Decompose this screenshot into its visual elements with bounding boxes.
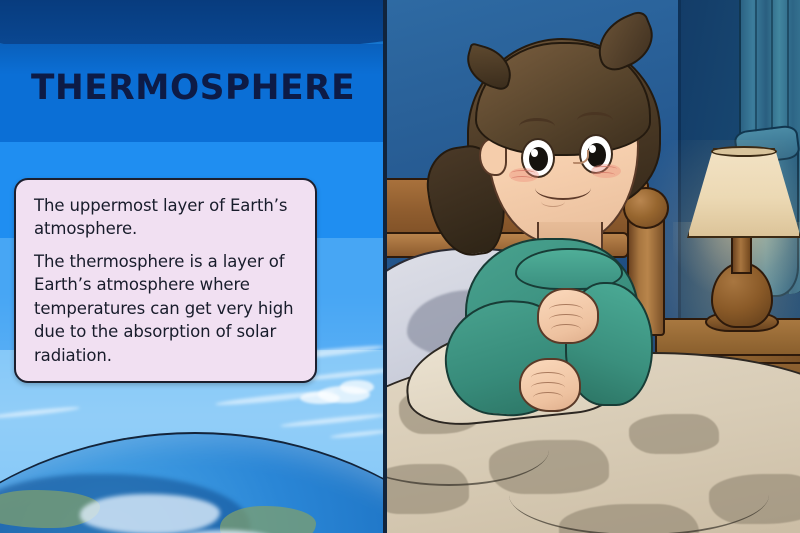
blanket-fold <box>629 414 719 454</box>
finger-crease <box>533 392 563 403</box>
girl-hand-upper <box>537 288 599 344</box>
page-title: THERMOSPHERE <box>31 68 355 108</box>
definition-card: The uppermost layer of Earth’s atmospher… <box>14 178 317 383</box>
girl-blush-line <box>593 172 615 178</box>
girl-hand-lower <box>519 358 581 412</box>
atmosphere-info-panel: THERMOSPHERE The uppermost layer of Eart… <box>0 0 383 533</box>
finger-crease <box>551 324 581 335</box>
bedroom-illustration-panel <box>387 0 800 533</box>
definition-paragraph-2: The thermosphere is a layer of Earth’s a… <box>34 250 299 367</box>
girl-eyebrow-right <box>577 112 613 129</box>
girl-chin-line <box>541 196 565 207</box>
panel-divider <box>383 0 387 533</box>
girl-pupil-left <box>529 147 548 171</box>
landmass <box>220 506 316 533</box>
girl-eyebrow-left <box>519 118 555 135</box>
earth-cloud <box>80 494 220 533</box>
slide-canvas: THERMOSPHERE The uppermost layer of Eart… <box>0 0 800 533</box>
girl-blush-line <box>511 176 533 182</box>
lamp-shade-top-rim <box>711 146 777 157</box>
definition-paragraph-1: The uppermost layer of Earth’s atmospher… <box>34 194 299 241</box>
